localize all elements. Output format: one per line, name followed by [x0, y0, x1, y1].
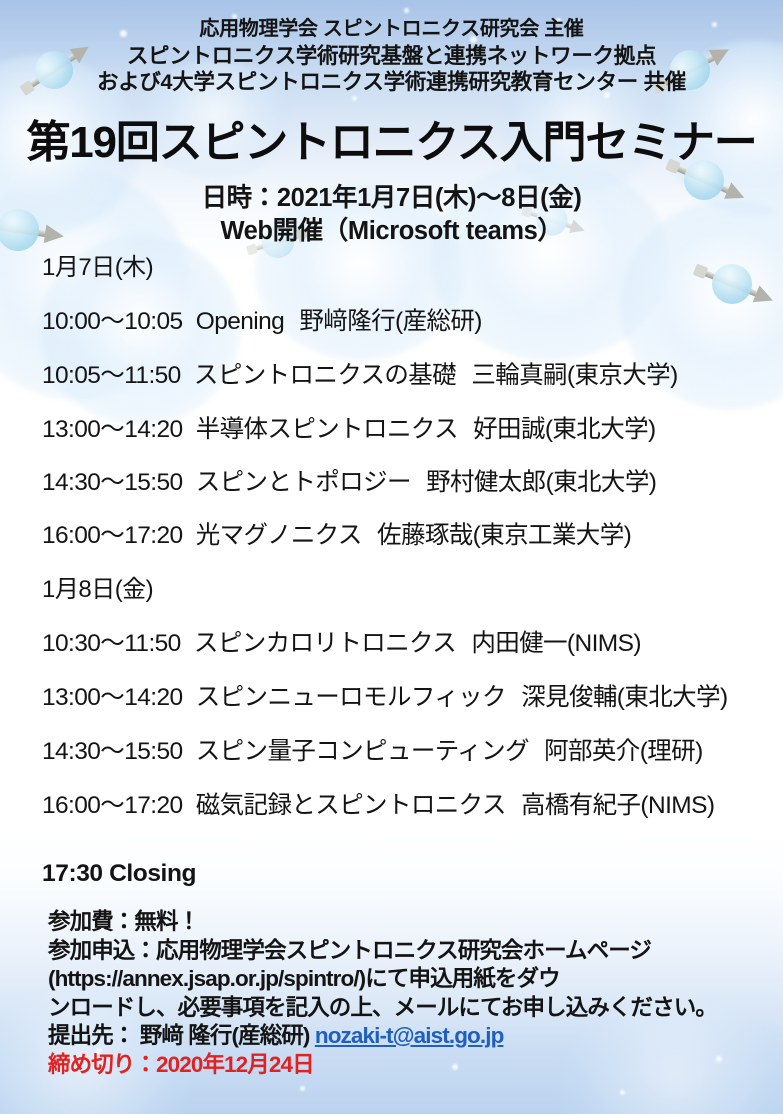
session-topic: スピン量子コンピューティング	[196, 738, 529, 765]
seminar-poster: 応用物理学会 スピントロニクス研究会 主催 スピントロニクス学術研究基盤と連携ネ…	[0, 0, 783, 1114]
session-row: 16:00～17:20 磁気記録とスピントロニクス 高橋有紀子(NIMS)	[42, 790, 714, 821]
page-title: 第19回スピントロニクス入門セミナー	[0, 117, 783, 169]
session-topic: スピンニューロモルフィック	[196, 684, 506, 711]
session-row: 14:30～15:50 スピンとトポロジー 野村健太郎(東北大学)	[42, 467, 656, 498]
session-row: 10:30～11:50 スピンカロリトロニクス 内田健一(NIMS)	[42, 628, 641, 659]
session-time: 10:00～10:05	[42, 308, 183, 335]
session-time: 16:00～17:20	[42, 522, 183, 549]
session-topic: Opening	[196, 308, 284, 335]
session-row: 13:00～14:20 半導体スピントロニクス 好田誠(東北大学)	[42, 414, 656, 445]
session-time: 10:05～11:50	[42, 362, 181, 389]
submit-label: 提出先： 野﨑 隆行(産総研)	[48, 1023, 315, 1048]
event-venue: Web開催（Microsoft teams）	[0, 215, 783, 248]
day-heading-2: 1月8日(金)	[42, 575, 153, 605]
session-time: 14:30～15:50	[42, 738, 183, 765]
session-speaker: 三輪真嗣(東京大学)	[471, 362, 677, 389]
session-topic: 光マグノニクス	[196, 522, 362, 549]
session-topic: スピンカロリトロニクス	[194, 630, 456, 657]
session-time: 16:00～17:20	[42, 792, 183, 819]
session-row: 16:00～17:20 光マグノニクス 佐藤琢哉(東京工業大学)	[42, 520, 631, 551]
organizers-block: 応用物理学会 スピントロニクス研究会 主催 スピントロニクス学術研究基盤と連携ネ…	[0, 16, 783, 96]
session-speaker: 野﨑隆行(産総研)	[299, 308, 481, 335]
contact-email-link[interactable]: nozaki-t@aist.go.jp	[315, 1023, 504, 1048]
session-time: 10:30～11:50	[42, 630, 181, 657]
organizer-line-3: および4大学スピントロニクス学術連携研究教育センター 共催	[0, 69, 783, 96]
organizer-line-2: スピントロニクス学術研究基盤と連携ネットワーク拠点	[0, 43, 783, 70]
session-time: 13:00～14:20	[42, 684, 183, 711]
session-speaker: 高橋有紀子(NIMS)	[521, 792, 714, 819]
session-speaker: 深見俊輔(東北大学)	[521, 684, 727, 711]
session-speaker: 好田誠(東北大学)	[473, 416, 655, 443]
apply-line-1: 参加申込：応用物理学会スピントロニクス研究会ホームページ	[48, 937, 778, 966]
session-speaker: 阿部英介(理研)	[544, 738, 703, 765]
session-speaker: 佐藤琢哉(東京工業大学)	[377, 522, 631, 549]
registration-block: 参加費：無料！ 参加申込：応用物理学会スピントロニクス研究会ホームページ (ht…	[48, 908, 778, 1079]
session-row: 13:00～14:20 スピンニューロモルフィック 深見俊輔(東北大学)	[42, 682, 728, 713]
deadline-line: 締め切り：2020年12月24日	[48, 1051, 778, 1080]
event-datetime-block: 日時：2021年1月7日(木)～8日(金) Web開催（Microsoft te…	[0, 182, 783, 248]
session-speaker: 内田健一(NIMS)	[471, 630, 641, 657]
closing-row: 17:30 Closing	[42, 858, 196, 889]
session-time: 14:30～15:50	[42, 469, 183, 496]
event-date: 日時：2021年1月7日(木)～8日(金)	[0, 182, 783, 215]
session-time: 13:00～14:20	[42, 416, 183, 443]
session-speaker: 野村健太郎(東北大学)	[426, 469, 656, 496]
fee-line: 参加費：無料！	[48, 908, 778, 937]
session-topic: 磁気記録とスピントロニクス	[196, 792, 506, 819]
session-row: 14:30～15:50 スピン量子コンピューティング 阿部英介(理研)	[42, 736, 703, 767]
apply-line-3: ンロードし、必要事項を記入の上、メールにてお申し込みください。	[48, 994, 778, 1023]
organizer-line-1: 応用物理学会 スピントロニクス研究会 主催	[0, 16, 783, 43]
session-row: 10:00～10:05 Opening 野﨑隆行(産総研)	[42, 306, 482, 337]
apply-line-2: (https://annex.jsap.or.jp/spintro/)にて申込用…	[48, 965, 778, 994]
day-heading-1: 1月7日(木)	[42, 253, 153, 283]
session-row: 10:05～11:50 スピントロニクスの基礎 三輪真嗣(東京大学)	[42, 360, 678, 391]
submit-line: 提出先： 野﨑 隆行(産総研) nozaki-t@aist.go.jp	[48, 1022, 778, 1051]
session-topic: 半導体スピントロニクス	[196, 416, 458, 443]
session-topic: スピントロニクスの基礎	[194, 362, 456, 389]
session-topic: スピンとトポロジー	[196, 469, 411, 496]
